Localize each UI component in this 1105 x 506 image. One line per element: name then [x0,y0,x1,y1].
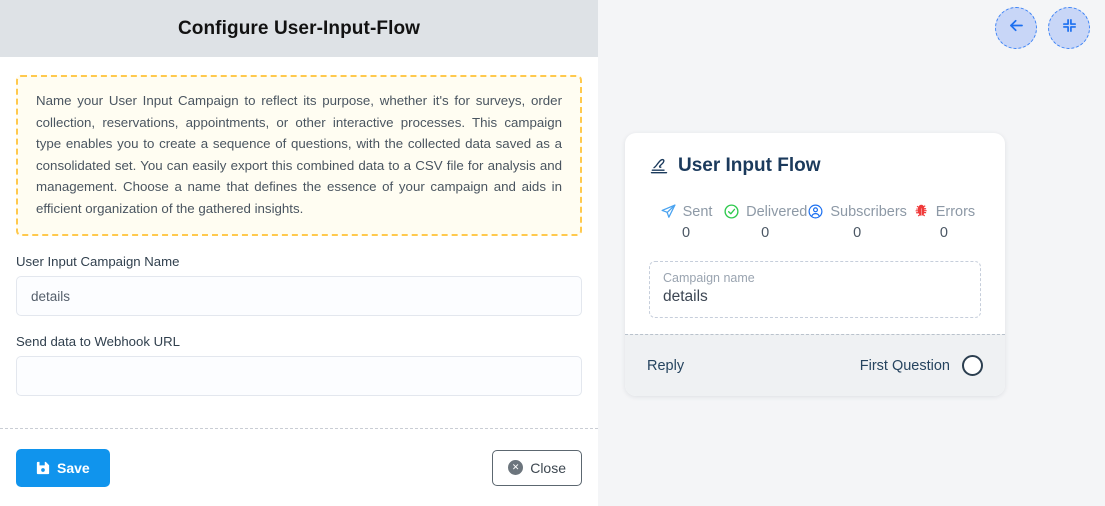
floppy-disk-icon [36,461,50,475]
close-button[interactable]: ✕ Close [492,450,582,486]
stat-delivered: Delivered 0 [723,203,807,241]
flow-card-footer: Reply First Question [625,334,1005,396]
stat-sent-head: Sent [649,203,723,220]
reply-label: Reply [647,358,684,374]
campaign-name-input[interactable] [16,276,582,316]
stat-delivered-label: Delivered [746,204,807,220]
campaign-name-field-group: User Input Campaign Name [16,254,582,316]
close-button-label: Close [530,460,566,476]
stat-errors-label: Errors [936,204,975,220]
campaign-name-display-label: Campaign name [663,271,967,285]
stat-subscribers-label: Subscribers [830,204,907,220]
modal-footer: Save ✕ Close [0,428,598,506]
signature-write-icon [649,156,669,176]
compress-button[interactable] [1048,7,1090,49]
flow-canvas: User Input Flow Sent [598,0,1105,506]
stat-errors-value: 0 [907,225,981,241]
back-button[interactable] [995,7,1037,49]
configure-modal: Configure User-Input-Flow Name your User… [0,0,598,506]
campaign-name-display: Campaign name details [649,261,981,318]
flow-card-title-label: User Input Flow [678,155,821,177]
stat-delivered-head: Delivered [723,203,807,220]
stat-delivered-value: 0 [723,225,807,241]
x-glyph: ✕ [512,463,520,472]
campaign-name-display-value: details [663,288,967,306]
stat-errors-head: Errors [907,203,981,220]
stat-sent-label: Sent [683,204,713,220]
first-question-row: First Question [860,355,983,376]
modal-body: Name your User Input Campaign to reflect… [0,57,598,428]
user-circle-icon [807,203,824,220]
bug-icon [913,203,930,220]
output-port[interactable] [962,355,983,376]
app-root: Configure User-Input-Flow Name your User… [0,0,1105,506]
webhook-url-field-group: Send data to Webhook URL [16,334,582,396]
stat-sent-value: 0 [649,225,723,241]
save-button[interactable]: Save [16,449,110,487]
flow-card-title: User Input Flow [649,155,981,177]
modal-header: Configure User-Input-Flow [0,0,598,57]
webhook-url-input[interactable] [16,356,582,396]
stat-subscribers-head: Subscribers [807,203,907,220]
save-button-label: Save [57,460,90,476]
page-title: Configure User-Input-Flow [178,18,420,40]
webhook-url-label: Send data to Webhook URL [16,334,582,349]
check-circle-icon [723,203,740,220]
campaign-name-label: User Input Campaign Name [16,254,582,269]
flow-node-card[interactable]: User Input Flow Sent [625,133,1005,396]
stat-errors: Errors 0 [907,203,981,241]
compress-icon [1061,17,1078,39]
stat-subscribers: Subscribers 0 [807,203,907,241]
flow-card-body: User Input Flow Sent [625,133,1005,334]
stats-row: Sent 0 Delivered [649,203,981,241]
first-question-label: First Question [860,358,950,374]
stat-subscribers-value: 0 [807,225,907,241]
stat-sent: Sent 0 [649,203,723,241]
paper-plane-icon [660,203,677,220]
info-callout: Name your User Input Campaign to reflect… [16,75,582,236]
x-circle-icon: ✕ [508,460,523,475]
arrow-left-icon [1007,16,1026,40]
reply-row: Reply [647,358,684,374]
